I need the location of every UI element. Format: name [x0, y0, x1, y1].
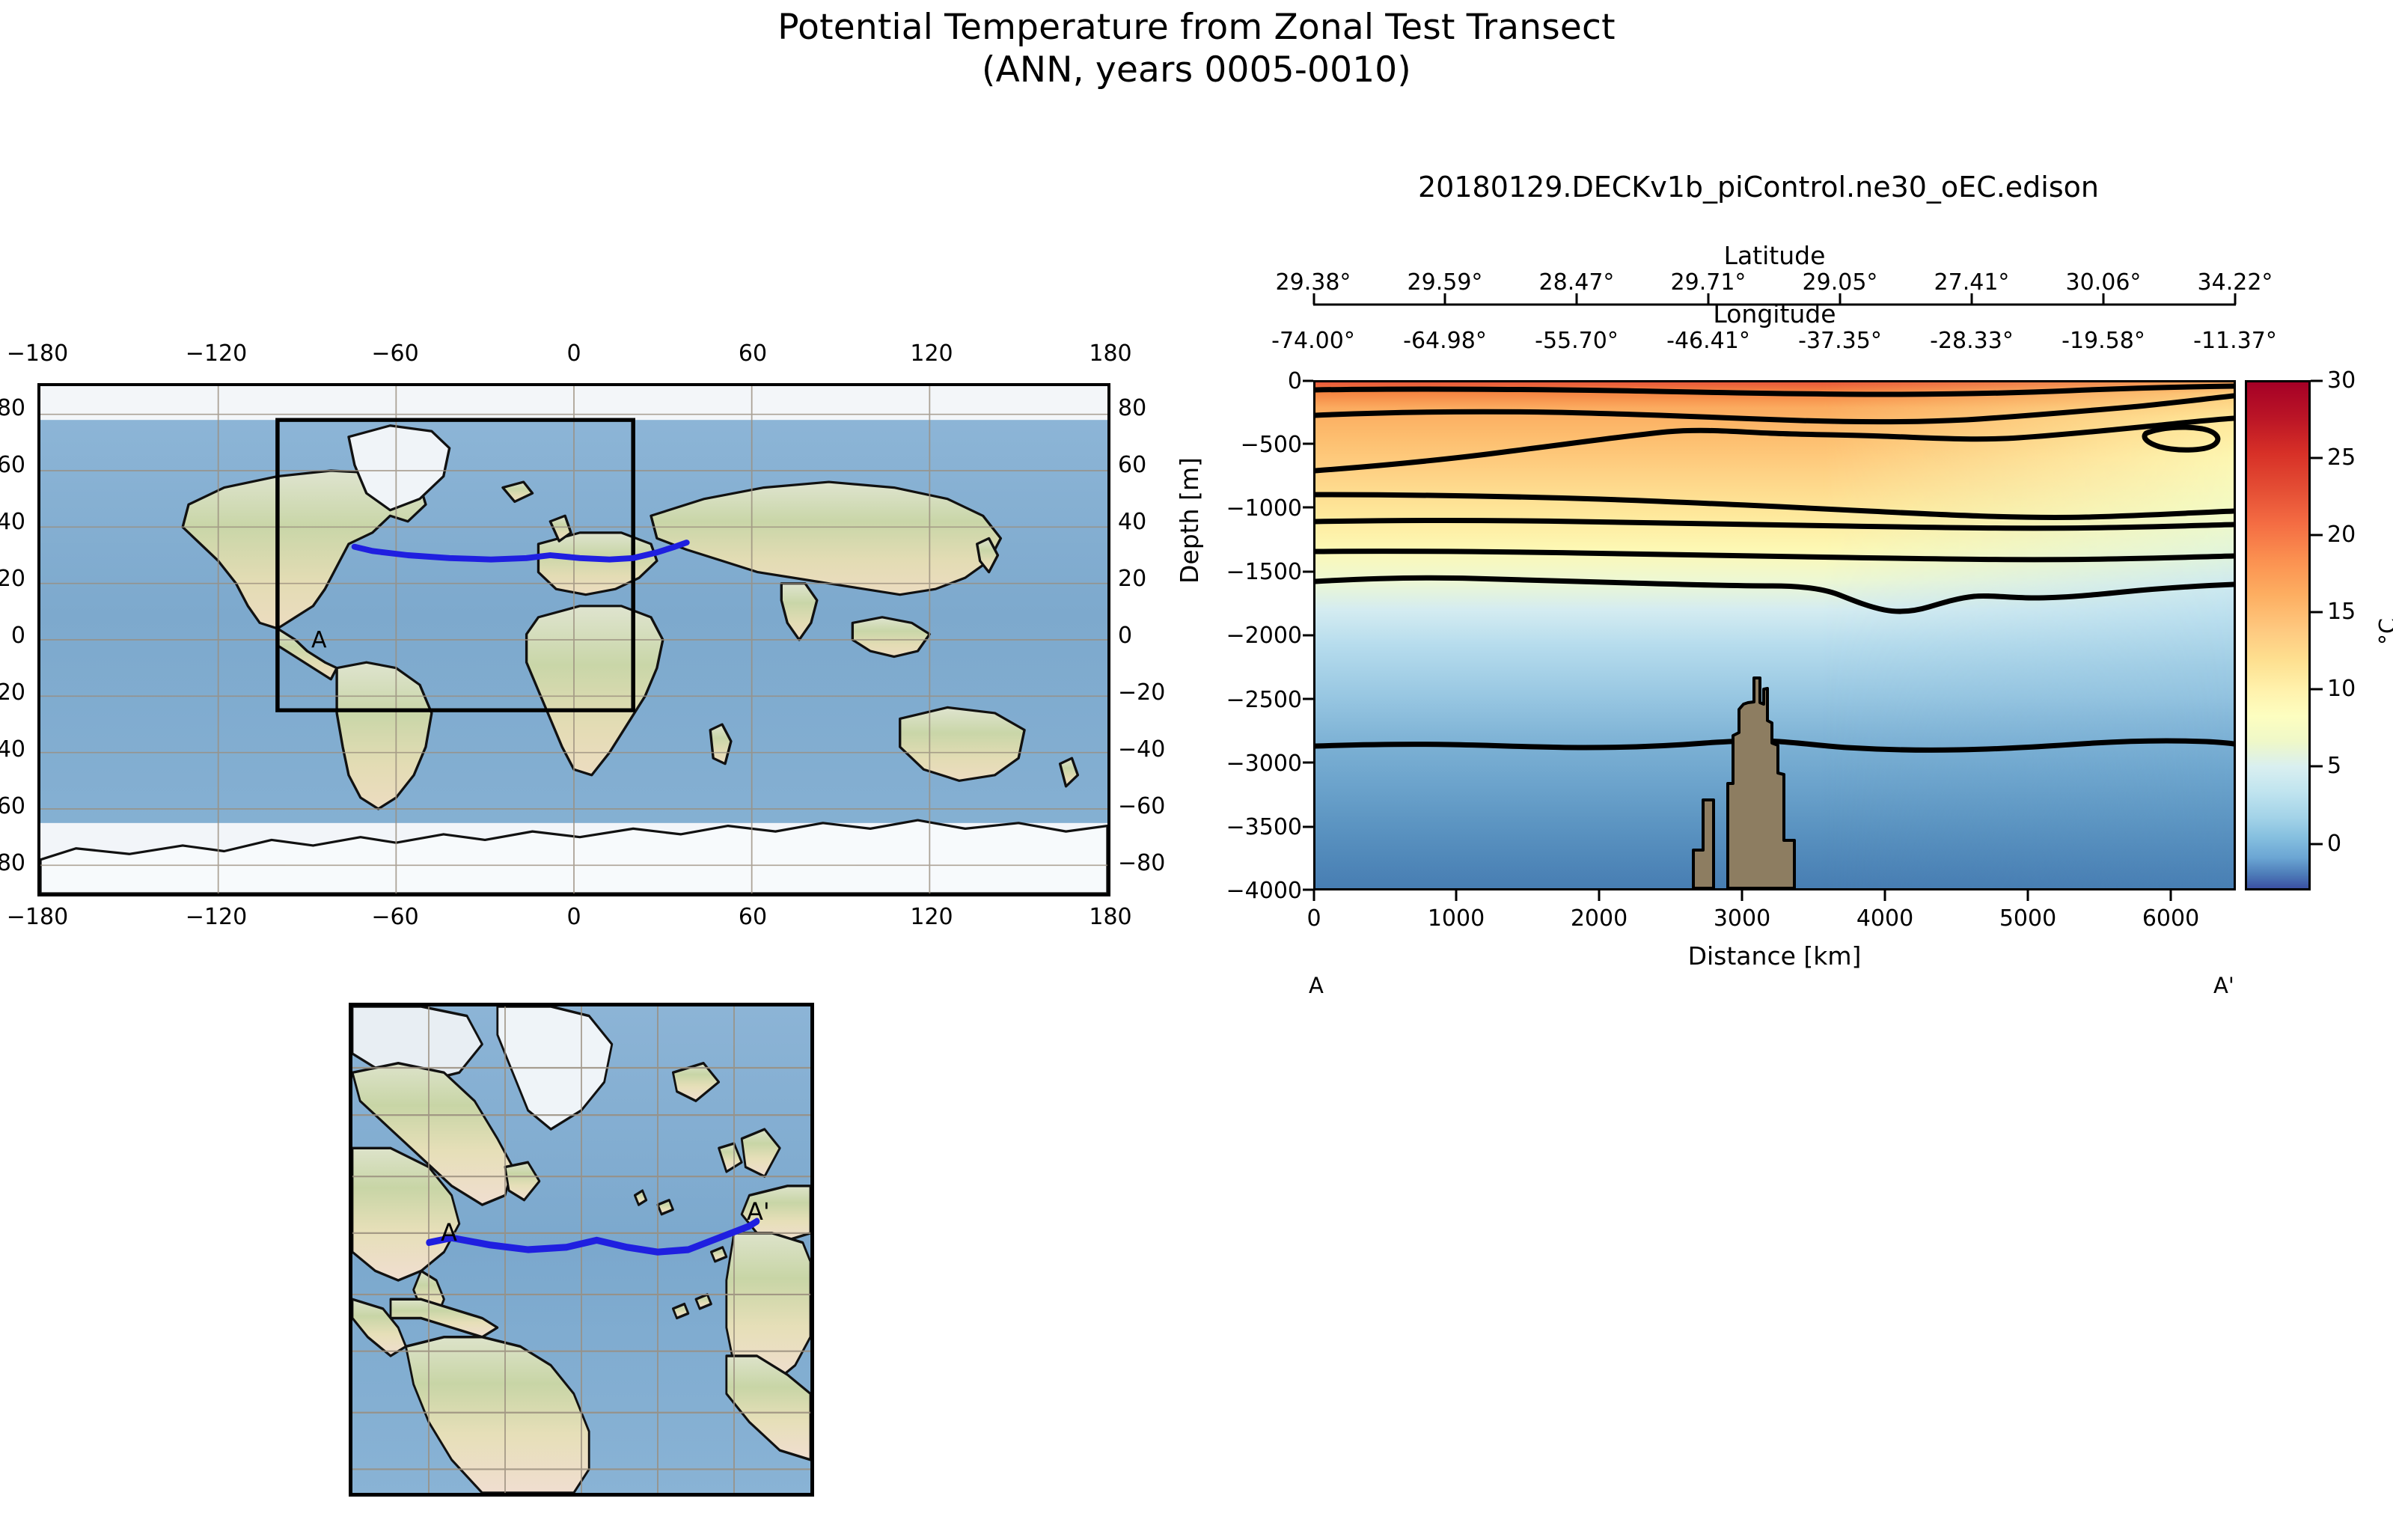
cbar-tick-5: 5: [2327, 753, 2341, 779]
lat-tick-0: 29.38°: [1253, 269, 1373, 296]
colorbar-unit-label: °C: [2375, 618, 2393, 645]
world-lat-tick-right-8: −80: [1118, 850, 1165, 876]
world-map-lon-axis-top: −180 −120 −60 0 60 120 180: [37, 340, 1110, 373]
figure-title-line1: Potential Temperature from Zonal Test Tr…: [0, 6, 2393, 49]
temperature-colorbar[interactable]: [2245, 380, 2311, 890]
world-lat-tick-left-6: −40: [0, 736, 25, 763]
world-lat-tick-left-2: 40: [0, 509, 25, 535]
world-lat-tick-left-1: 60: [0, 452, 25, 478]
depth-tick-0: 0: [1288, 368, 1302, 394]
depth-tick-5: −2500: [1226, 687, 1302, 713]
dist-tick-5: 5000: [1968, 905, 2088, 932]
north-atlantic-inset-map[interactable]: A A': [349, 1003, 814, 1497]
lat-tick-5: 27.41°: [1912, 269, 2032, 296]
world-lon-tick-top-5: 120: [872, 340, 991, 367]
longitude-axis-label: Longitude: [1313, 299, 2236, 329]
distance-axis-ticks: [1313, 890, 2237, 902]
world-lon-tick-top-4: 60: [693, 340, 813, 367]
world-lat-tick-right-7: −60: [1118, 793, 1165, 819]
transect-end-label: A': [2213, 973, 2234, 998]
cbar-tick-0: 0: [2327, 831, 2341, 857]
world-lat-tick-left-8: −80: [0, 850, 25, 876]
world-lat-tick-right-2: 40: [1118, 509, 1146, 535]
world-lat-tick-left-5: −20: [0, 679, 25, 706]
world-lon-tick-bottom-4: 60: [693, 904, 813, 930]
lon-tick-0: -74.00°: [1253, 328, 1373, 354]
dist-tick-0: 0: [1254, 905, 1374, 932]
lat-tick-7: 34.22°: [2175, 269, 2295, 296]
dist-tick-2: 2000: [1539, 905, 1659, 932]
lat-tick-6: 30.06°: [2044, 269, 2163, 296]
world-map-lon-axis-bottom: −180 −120 −60 0 60 120 180: [37, 904, 1110, 937]
depth-tick-1: −500: [1241, 432, 1302, 458]
cbar-tick-30: 30: [2327, 367, 2356, 394]
world-lon-tick-bottom-0: −180: [0, 904, 97, 930]
global-reference-map[interactable]: A: [37, 383, 1110, 896]
depth-tick-column: 0 −500 −1000 −1500 −2000 −2500 −3000 −35…: [1197, 380, 1302, 890]
world-map-canvas: [40, 386, 1107, 893]
figure-title: Potential Temperature from Zonal Test Tr…: [0, 6, 2393, 92]
world-lon-tick-top-2: −60: [335, 340, 455, 367]
world-lat-tick-left-7: −60: [0, 793, 25, 819]
world-lat-tick-left-3: 20: [0, 566, 25, 592]
lon-tick-1: -64.98°: [1385, 328, 1505, 354]
latitude-axis-label: Latitude: [1313, 241, 2236, 270]
lon-tick-3: -46.41°: [1648, 328, 1768, 354]
inset-transect-end-label: A': [747, 1197, 770, 1226]
world-map-lat-axis-left: 80 60 40 20 0 −20 −40 −60 −80: [0, 383, 33, 896]
world-lat-tick-left-0: 80: [0, 395, 25, 421]
lon-tick-2: -55.70°: [1517, 328, 1636, 354]
lon-tick-6: -19.58°: [2044, 328, 2163, 354]
depth-tick-4: −2000: [1226, 623, 1302, 649]
world-lon-tick-top-6: 180: [1051, 340, 1170, 367]
inset-map-canvas: [352, 1006, 810, 1493]
cbar-tick-15: 15: [2327, 599, 2356, 625]
colorbar-ticks: [2311, 380, 2324, 890]
lat-tick-2: 28.47°: [1517, 269, 1636, 296]
depth-tick-6: −3000: [1226, 751, 1302, 777]
lon-tick-5: -28.33°: [1912, 328, 2032, 354]
dist-tick-6: 6000: [2111, 905, 2231, 932]
world-lon-tick-bottom-3: 0: [514, 904, 634, 930]
dist-tick-4: 4000: [1825, 905, 1945, 932]
cbar-tick-25: 25: [2327, 444, 2356, 471]
depth-tick-3: −1500: [1226, 559, 1302, 585]
dist-tick-3: 3000: [1682, 905, 1802, 932]
world-lat-tick-right-1: 60: [1118, 452, 1146, 478]
distance-axis-label: Distance [km]: [1313, 941, 2236, 971]
world-lat-tick-right-3: 20: [1118, 566, 1146, 592]
world-lon-tick-top-0: −180: [0, 340, 97, 367]
transect-start-label: A: [1309, 973, 1324, 998]
transect-canvas: [1315, 382, 2234, 888]
lon-tick-4: -37.35°: [1780, 328, 1900, 354]
world-lon-tick-bottom-1: −120: [156, 904, 276, 930]
temperature-transect-plot[interactable]: [1313, 380, 2236, 890]
latitude-tick-row: 29.38° 29.59° 28.47° 29.71° 29.05° 27.41…: [1313, 269, 2236, 299]
world-lat-tick-left-4: 0: [11, 623, 25, 649]
depth-tick-7: −3500: [1226, 814, 1302, 840]
lat-tick-1: 29.59°: [1385, 269, 1505, 296]
world-lat-tick-right-4: 0: [1118, 623, 1132, 649]
world-lon-tick-bottom-5: 120: [872, 904, 991, 930]
world-lon-tick-top-3: 0: [514, 340, 634, 367]
world-lat-tick-right-6: −40: [1118, 736, 1165, 763]
inset-transect-start-label: A: [441, 1218, 457, 1247]
world-map-transect-start-label: A: [311, 627, 327, 653]
world-lon-tick-bottom-2: −60: [335, 904, 455, 930]
colorbar-gradient: [2247, 382, 2308, 888]
figure-title-line2: (ANN, years 0005-0010): [0, 49, 2393, 91]
world-lon-tick-bottom-6: 180: [1051, 904, 1170, 930]
depth-tick-8: −4000: [1226, 878, 1302, 904]
world-lon-tick-top-1: −120: [156, 340, 276, 367]
run-name-subtitle: 20180129.DECKv1b_piControl.ne30_oEC.edis…: [1235, 171, 2282, 204]
world-lat-tick-right-5: −20: [1118, 679, 1165, 706]
depth-tick-2: −1000: [1226, 495, 1302, 522]
longitude-tick-row: -74.00° -64.98° -55.70° -46.41° -37.35° …: [1313, 328, 2236, 358]
lon-tick-7: -11.37°: [2175, 328, 2295, 354]
dist-tick-1: 1000: [1396, 905, 1516, 932]
distance-tick-row: 0 1000 2000 3000 4000 5000 6000: [1313, 905, 2237, 935]
cbar-tick-20: 20: [2327, 522, 2356, 548]
lat-tick-4: 29.05°: [1780, 269, 1900, 296]
world-lat-tick-right-0: 80: [1118, 395, 1146, 421]
cbar-tick-10: 10: [2327, 676, 2356, 702]
lat-tick-3: 29.71°: [1648, 269, 1768, 296]
